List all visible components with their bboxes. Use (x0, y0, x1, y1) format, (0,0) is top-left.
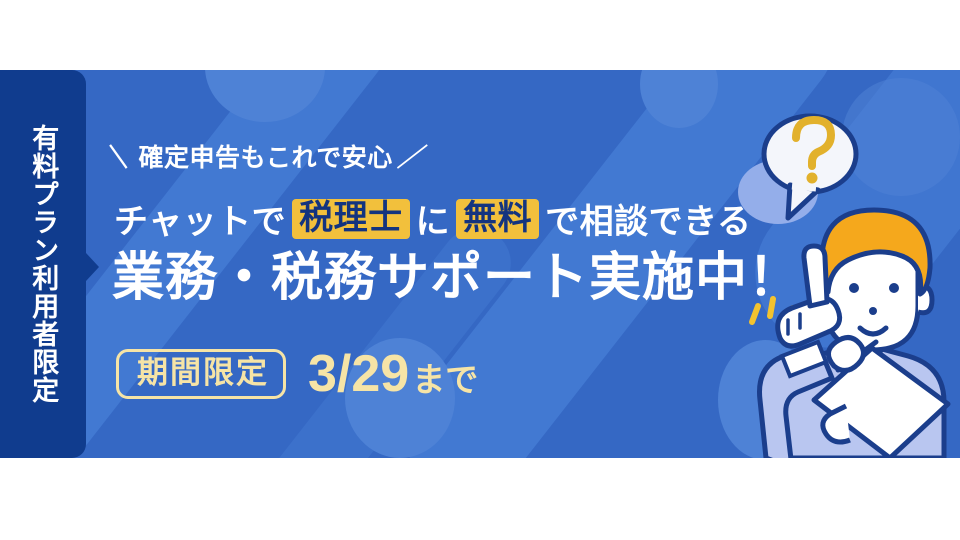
headline: 業務・税務サポート実施中！ (112, 252, 801, 304)
period-row: 期間限定 3/29 まで (116, 348, 478, 400)
subheadline: チャットで税理士に無料で相談できる (114, 194, 752, 243)
subheadline-part-1: チャットで (114, 194, 286, 243)
slash-right-icon: ／ (395, 138, 431, 174)
character-illustration (730, 70, 960, 458)
nose (869, 307, 877, 315)
eye-right (889, 283, 899, 293)
subheadline-part-3: で相談できる (545, 194, 751, 243)
banner-stage: 有料プラン利用者限定 ＼確定申告もこれで安心／ チャットで税理士に無料で相談でき… (0, 0, 960, 540)
eyebrow-text: 確定申告もこれで安心 (139, 144, 393, 172)
tab-arrow-icon (86, 253, 99, 281)
subheadline-part-2: に (416, 194, 451, 243)
subheadline-highlight-tax-accountant: 税理士 (292, 199, 410, 239)
end-date-suffix: まで (412, 363, 478, 396)
eyebrow-tagline: ＼確定申告もこれで安心／ (106, 138, 425, 174)
end-date-value: 3/29 (308, 348, 409, 400)
eye-left (849, 283, 859, 293)
eligibility-tab: 有料プラン利用者限定 (0, 70, 86, 458)
slash-left-icon: ＼ (101, 138, 137, 174)
limited-time-badge: 期間限定 (116, 349, 286, 399)
end-date: 3/29 まで (308, 348, 478, 400)
promo-copy: ＼確定申告もこれで安心／ チャットで税理士に無料で相談できる 業務・税務サポート… (104, 70, 764, 458)
eligibility-tab-label: 有料プラン利用者限定 (0, 98, 86, 430)
subheadline-highlight-free: 無料 (456, 199, 539, 239)
character-head (822, 210, 932, 350)
